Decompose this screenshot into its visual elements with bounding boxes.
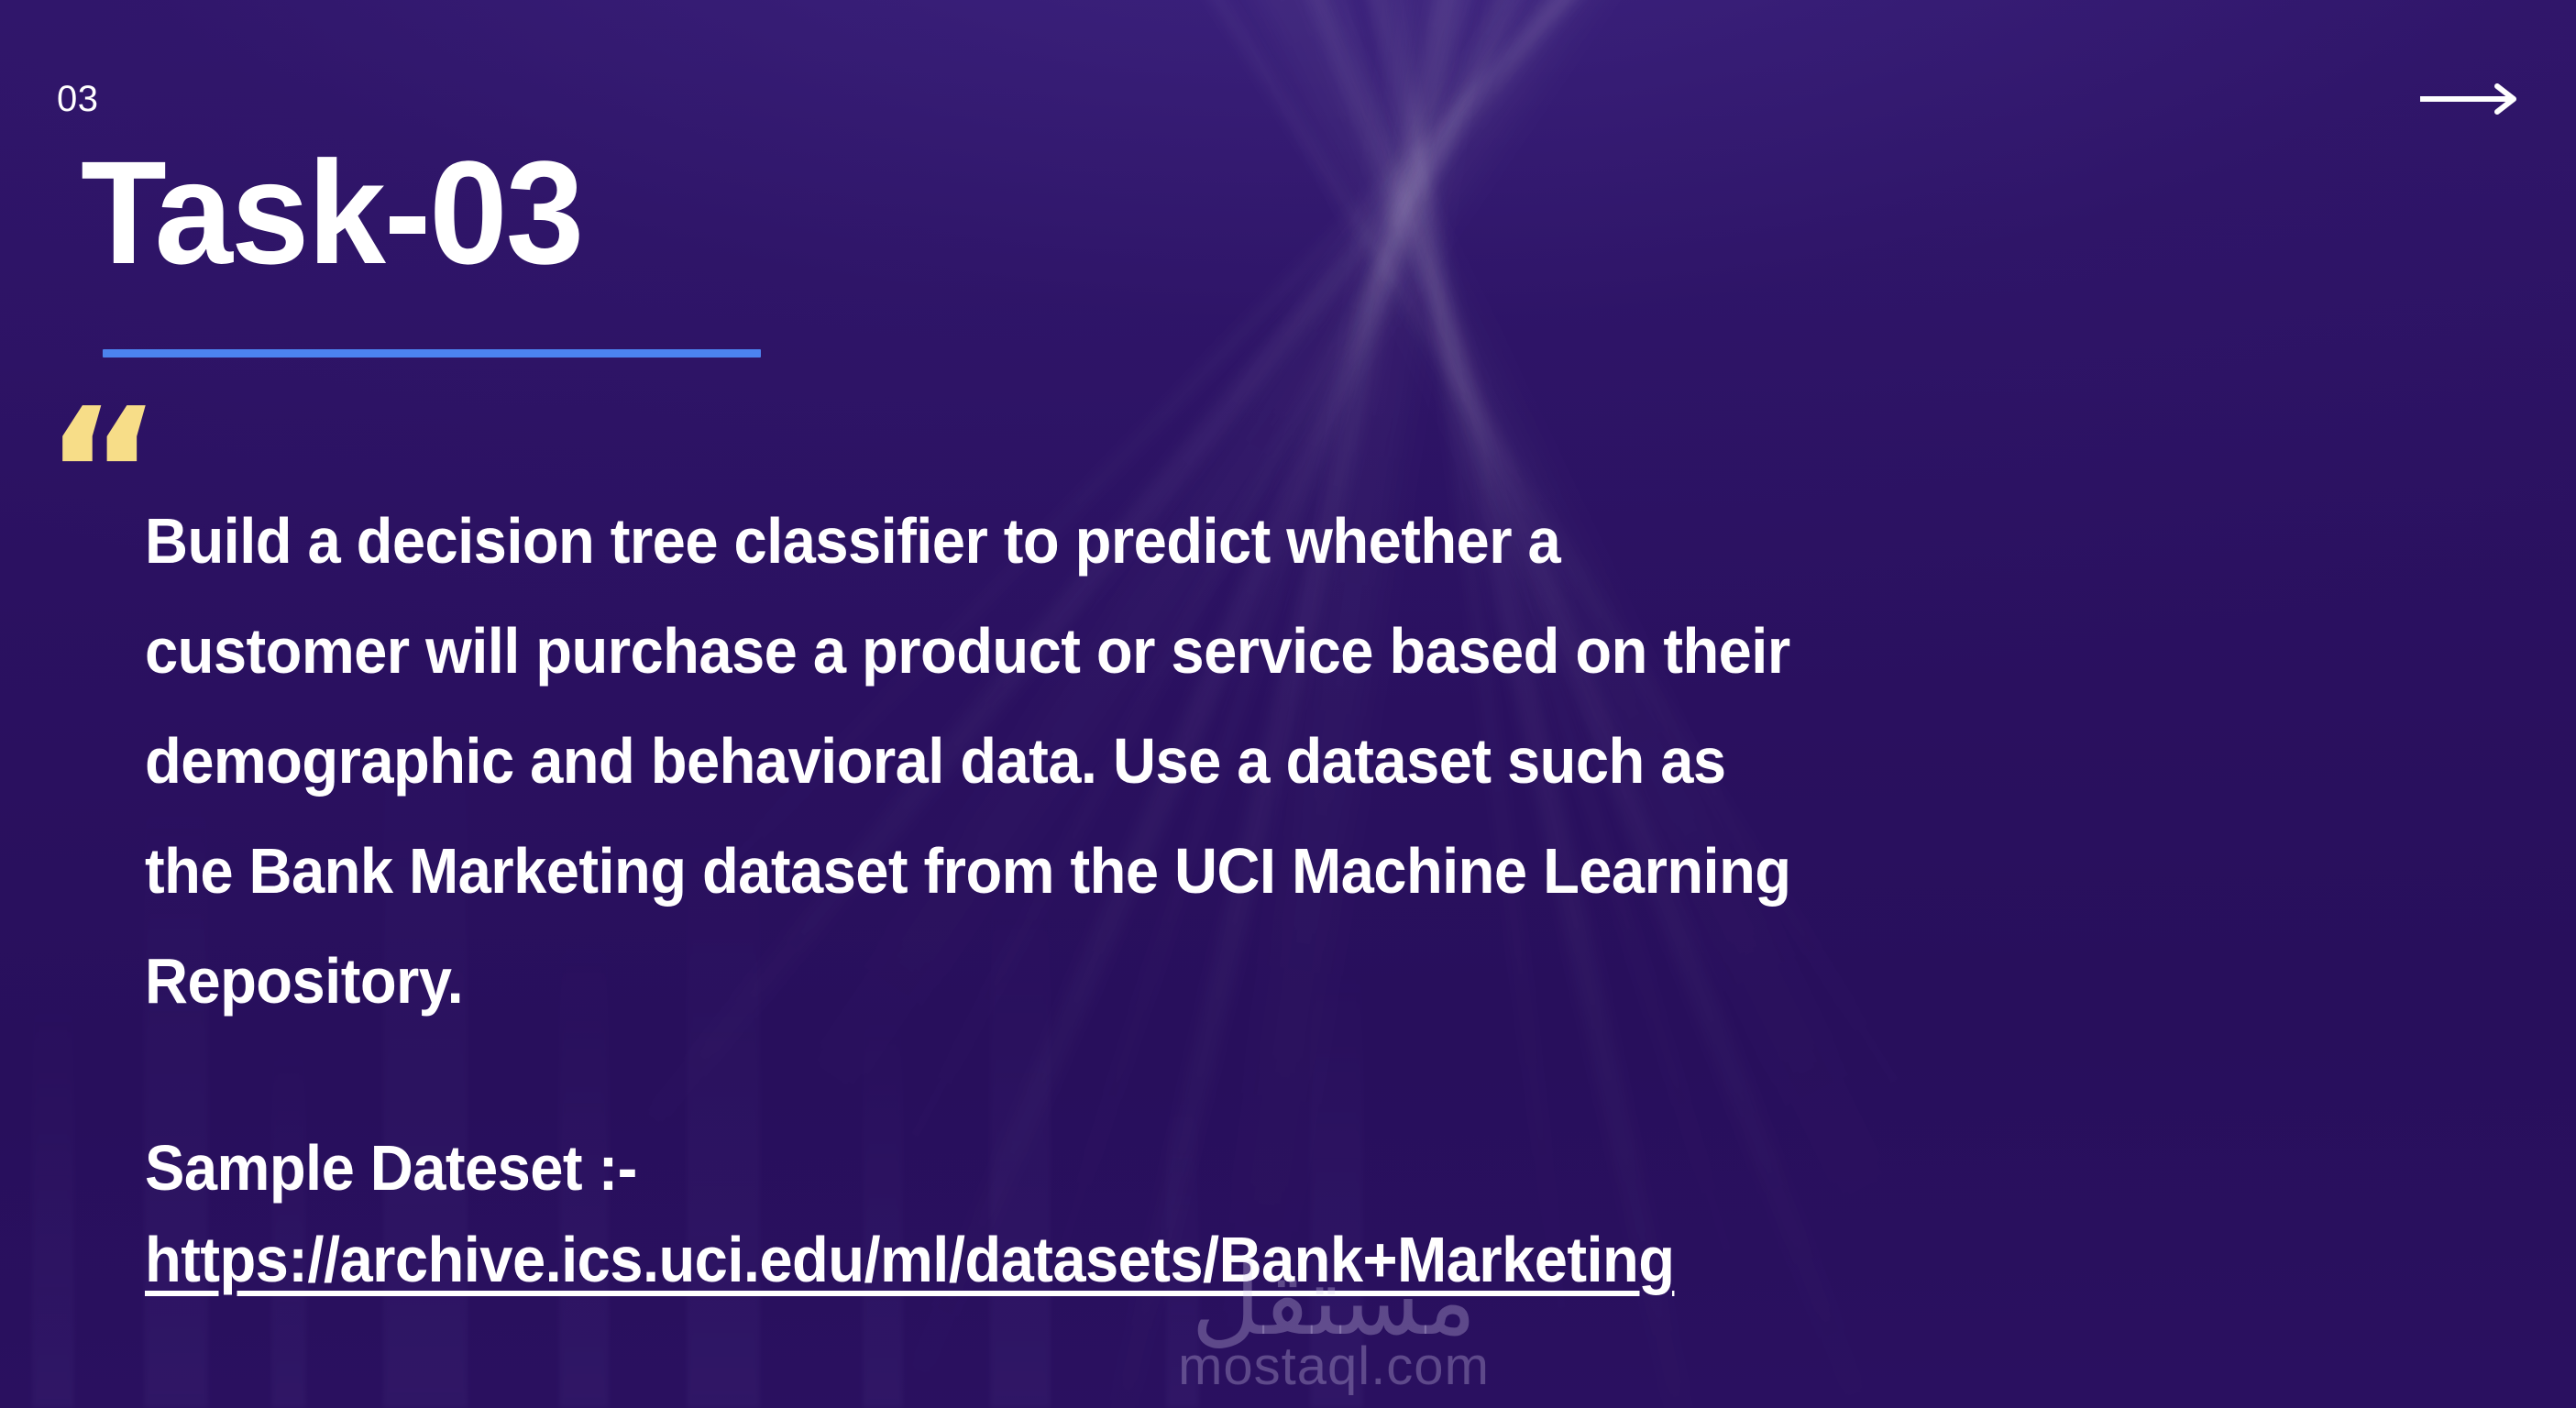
slide-canvas: 03 Task-03 “ Build a decision tree class…: [0, 0, 2576, 1408]
description-line: demographic and behavioral data. Use a d…: [145, 706, 2328, 816]
description-line: the Bank Marketing dataset from the UCI …: [145, 816, 2328, 926]
sample-dataset-link-row[interactable]: https://archive.ics.uci.edu/ml/datasets/…: [145, 1212, 2328, 1307]
description-line: customer will purchase a product or serv…: [145, 596, 2328, 706]
sample-dataset-label: Sample Dateset :-: [145, 1124, 2328, 1212]
page-title: Task-03: [81, 137, 582, 287]
title-underline-rule: [103, 349, 761, 357]
sample-dataset-url[interactable]: https://archive.ics.uci.edu/ml/datasets/…: [145, 1224, 1674, 1295]
description-line: Repository.: [145, 926, 2328, 1036]
arrow-right-icon: [2418, 81, 2525, 117]
description-line: Build a decision tree classifier to pred…: [145, 486, 2328, 596]
paragraph-spacer: [145, 1036, 2492, 1124]
slide-number: 03: [57, 81, 99, 117]
task-description-block: Build a decision tree classifier to pred…: [145, 486, 2492, 1307]
next-slide-arrow[interactable]: [2418, 79, 2528, 119]
